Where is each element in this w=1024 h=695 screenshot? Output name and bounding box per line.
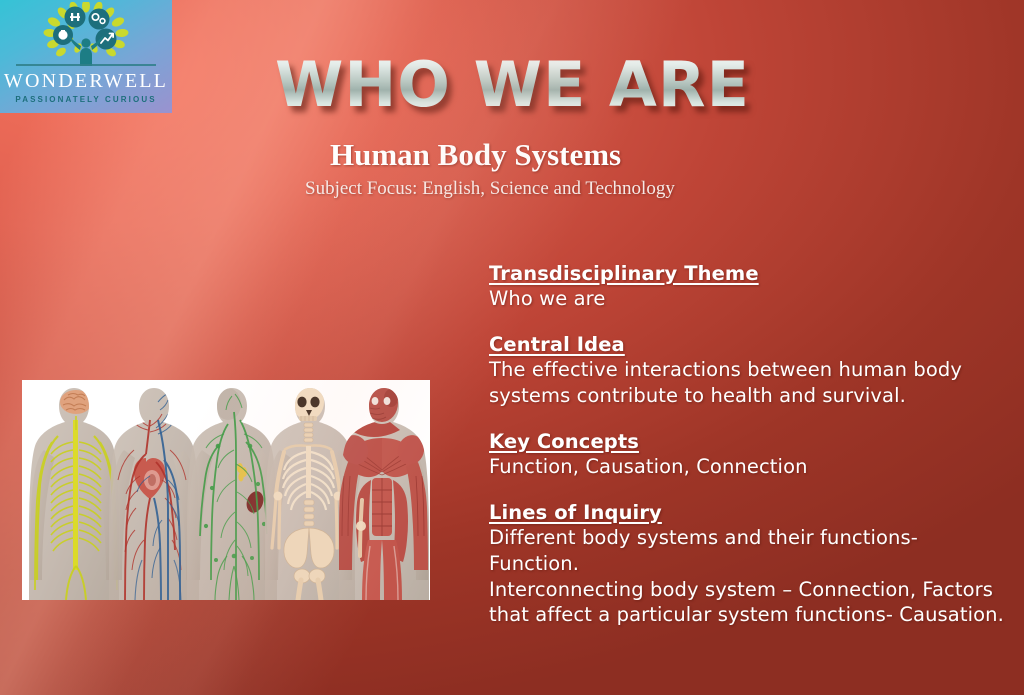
block-heading: Lines of Inquiry bbox=[489, 501, 1004, 524]
subject-focus-line: Subject Focus: English, Science and Tech… bbox=[305, 178, 675, 200]
tree-logo-icon bbox=[0, 2, 172, 68]
presentation-slide: WONDERWELL PASSIONATELY CURIOUS WHO WE A… bbox=[0, 0, 1024, 695]
wonderwell-logo: WONDERWELL PASSIONATELY CURIOUS bbox=[0, 0, 172, 113]
content-column: Transdisciplinary Theme Who we are Centr… bbox=[489, 262, 1004, 628]
block-body: Function, Causation, Connection bbox=[489, 454, 1004, 480]
body-systems-illustration bbox=[22, 380, 430, 600]
page-subtitle: Human Body Systems bbox=[330, 137, 621, 173]
block-heading: Transdisciplinary Theme bbox=[489, 262, 1004, 285]
body-systems-image bbox=[22, 380, 430, 600]
block-body: Who we are bbox=[489, 286, 1004, 312]
block-body: Different body systems and their functio… bbox=[489, 525, 1004, 629]
logo-divider bbox=[16, 64, 156, 66]
content-block-central-idea: Central Idea The effective interactions … bbox=[489, 333, 1004, 409]
logo-tagline: PASSIONATELY CURIOUS bbox=[0, 95, 172, 104]
block-body: The effective interactions between human… bbox=[489, 357, 1004, 409]
block-heading: Key Concepts bbox=[489, 430, 1004, 453]
page-title: WHO WE ARE bbox=[275, 54, 750, 116]
block-heading: Central Idea bbox=[489, 333, 1004, 356]
content-block-lines-of-inquiry: Lines of Inquiry Different body systems … bbox=[489, 501, 1004, 629]
content-block-key-concepts: Key Concepts Function, Causation, Connec… bbox=[489, 430, 1004, 480]
logo-wordmark: WONDERWELL bbox=[0, 70, 172, 93]
content-block-transdisciplinary-theme: Transdisciplinary Theme Who we are bbox=[489, 262, 1004, 312]
